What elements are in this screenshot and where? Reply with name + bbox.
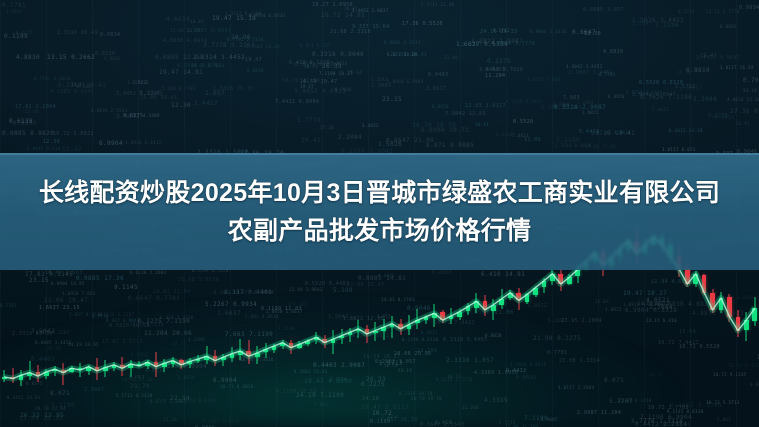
candlestick <box>499 289 504 308</box>
data-token: 4.8830 <box>16 54 40 61</box>
candle-body <box>145 362 150 366</box>
candlestick <box>162 359 167 372</box>
candlestick <box>424 315 429 324</box>
data-token: 10.72 22.94 <box>282 78 320 84</box>
candlestick <box>516 288 521 310</box>
data-token: 7.663 <box>563 95 580 101</box>
candle-body <box>272 346 277 350</box>
data-token: 0.7781 8.8820 <box>34 76 71 81</box>
data-token: 4.3389 0.6647 <box>50 89 94 95</box>
data-token: 0.4412 24.19 <box>669 128 703 133</box>
candlestick <box>27 361 32 380</box>
data-token: 21.08 2.3316 <box>330 29 371 35</box>
candlestick <box>719 292 724 313</box>
candlestick <box>322 335 327 348</box>
data-token: 0.4412 3.9042 <box>506 99 543 104</box>
data-token: 0.9934 6.410 <box>739 5 759 11</box>
candle-body <box>128 364 133 368</box>
data-token: 3.4452 <box>362 123 379 128</box>
candle-wick <box>12 368 13 382</box>
data-token: 4.8830 2.5543 <box>91 108 128 113</box>
data-token: 0.9046 <box>6 9 23 14</box>
candle-body <box>120 365 125 369</box>
candle-body <box>78 368 83 371</box>
data-token: 3.4452 4.0521 <box>294 88 346 95</box>
candle-body <box>381 327 386 331</box>
candle-body <box>499 299 504 305</box>
data-token: 18.27 1.0950 <box>312 2 353 8</box>
candle-body <box>10 377 15 379</box>
data-token: 19.47 15.18 <box>212 15 256 22</box>
data-token: 3.4452 0.7026 <box>479 67 523 73</box>
data-token: 21.08 10.41 <box>390 52 428 58</box>
data-token: 0.1199 <box>4 33 28 40</box>
data-token: 1.5026 <box>378 141 402 148</box>
data-token: 17.36 0.5520 <box>402 21 443 27</box>
data-token: 0.2275 <box>708 113 728 119</box>
candle-body <box>179 360 184 365</box>
candlestick <box>466 303 471 316</box>
candlestick <box>44 369 49 379</box>
candle-body <box>390 324 395 327</box>
screenshot-root: 0.08853.01170.266222.94 9.11454.3389 0.6… <box>0 0 759 427</box>
data-token: 17.82 2.2084 <box>15 104 56 110</box>
candle-body <box>365 329 370 334</box>
data-token: 7.4421 6.9904 <box>275 99 319 105</box>
candlestick <box>348 328 353 343</box>
data-token: 3.0117 8.071 <box>662 147 696 152</box>
data-token: 24.19 26.33 <box>480 29 518 35</box>
candlestick <box>752 297 757 326</box>
candlestick <box>449 308 454 324</box>
data-token: 24.19 <box>743 88 757 93</box>
data-token: 11.06 <box>524 137 541 143</box>
candle-body <box>331 339 336 343</box>
candlestick <box>19 370 24 386</box>
candlestick <box>474 293 479 313</box>
data-token: 17.36 <box>320 125 334 130</box>
candle-body <box>744 320 749 330</box>
candle-body <box>196 359 201 361</box>
candlestick <box>120 357 125 375</box>
data-token: 2.5543 <box>371 77 388 82</box>
candle-body <box>440 312 445 320</box>
data-token: 7.1190 <box>556 137 580 144</box>
data-token: 5.108 11.204 <box>541 105 582 111</box>
candle-body <box>36 372 41 376</box>
candle-wick <box>4 370 5 382</box>
candlestick <box>297 341 302 349</box>
data-token: 0.0885 1.057 <box>583 7 624 13</box>
data-token: 3.7778 5.2267 <box>203 42 255 49</box>
data-token: 0.6647 <box>77 84 94 89</box>
data-token: 7.1190 <box>655 22 679 29</box>
candle-body <box>44 372 49 377</box>
banner-title-line-1: 长线配资炒股2025年10月3日晋城市绿盛农工商实业有限公司 <box>39 174 720 212</box>
banner-title-line-2: 农副产品批发市场价格行情 <box>228 212 532 250</box>
data-token: 3.9042 12.83 <box>445 111 486 117</box>
data-token: 8.071 20.06 <box>387 52 418 57</box>
candlestick <box>103 360 108 376</box>
data-token: 12.30 <box>171 102 191 109</box>
candlestick <box>213 350 218 365</box>
candle-body <box>246 351 251 357</box>
candlestick <box>727 294 732 322</box>
candle-body <box>710 293 715 310</box>
candlestick <box>314 332 319 344</box>
candlestick <box>710 289 715 313</box>
candle-wick <box>206 346 207 363</box>
data-token: 4.6614 <box>166 16 190 23</box>
data-token: 3.0117 16.59 <box>720 65 754 70</box>
candle-body <box>466 306 471 311</box>
data-token: 8.8820 <box>432 104 449 109</box>
data-token: 12.30 <box>43 139 60 145</box>
data-token: 0.0885 22.94 <box>155 54 203 61</box>
candle-wick <box>392 316 393 337</box>
candle-wick <box>240 339 241 360</box>
candlestick <box>558 268 563 291</box>
candlestick <box>533 286 538 298</box>
data-token: 17.82 4.6614 <box>597 130 631 135</box>
data-token: 6.0533 5.5713 <box>295 62 339 68</box>
data-token: 4.3389 <box>143 113 160 118</box>
data-token: 3.7778 <box>297 117 321 124</box>
data-token: 3.9042 <box>104 56 121 61</box>
data-token: 2.5543 <box>632 21 652 27</box>
data-token: 23.15 0.2662 <box>47 54 95 61</box>
candlestick <box>432 304 437 326</box>
data-token: 3.4452 5.2267 <box>116 91 160 97</box>
data-token: 1.6637 0.6647 <box>187 28 231 34</box>
data-token: 6.9904 10.72 <box>421 127 469 134</box>
candlestick <box>280 340 285 350</box>
data-token: 0.7026 4.8830 <box>743 77 759 84</box>
data-token: 10.41 <box>475 122 489 127</box>
candle-body <box>187 361 192 363</box>
candle-body <box>238 351 243 355</box>
candle-body <box>516 293 521 300</box>
data-token: 10.72 14.81 <box>321 12 365 19</box>
data-token: 5.108 0.7781 <box>162 86 196 91</box>
candlestick <box>255 346 260 364</box>
data-token: 19.47 14.81 <box>159 69 203 76</box>
candle-body <box>415 320 420 323</box>
candle-body <box>719 298 724 310</box>
candlestick <box>2 370 7 382</box>
candlestick <box>112 362 117 371</box>
data-token: 0.0885 <box>720 24 737 29</box>
data-token: 19.47 <box>700 53 717 59</box>
candlestick <box>744 312 749 341</box>
data-token: 7.4421 <box>652 107 669 112</box>
candlestick <box>381 319 386 340</box>
candle-body <box>255 353 260 357</box>
data-token: 3.4452 0.6647 <box>696 55 740 61</box>
candlestick <box>415 309 420 329</box>
candlestick <box>398 319 403 334</box>
data-token: 0.8810 <box>13 120 37 127</box>
candlestick <box>525 293 530 304</box>
candlestick <box>702 274 707 296</box>
data-token: 0.5520 <box>513 119 533 125</box>
candle-body <box>162 363 167 367</box>
data-token: 0.7026 7.1190 <box>640 94 692 101</box>
data-token: 28.70 28.70 <box>412 122 456 129</box>
data-token: 1.3314 <box>496 132 513 137</box>
candle-body <box>457 312 462 317</box>
data-token: 14.81 <box>190 19 204 24</box>
candlestick <box>145 360 150 369</box>
candlestick <box>204 346 209 363</box>
data-token: 21.08 <box>25 109 39 114</box>
candle-body <box>137 364 142 366</box>
candlestick <box>440 310 445 322</box>
data-token: 22.94 16.59 <box>170 28 201 33</box>
candlestick <box>390 316 395 337</box>
candlestick <box>69 366 74 373</box>
candle-body <box>2 377 7 379</box>
data-token: 12.30 <box>584 31 601 37</box>
data-token: 0.9934 6.0533 <box>249 13 286 18</box>
data-token: 5.5713 <box>493 28 510 33</box>
data-token: 2.5543 24.19 <box>246 44 280 49</box>
candle-body <box>508 293 513 298</box>
candle-body <box>339 336 344 339</box>
candle-body <box>86 367 91 371</box>
data-token: 0.2275 <box>487 58 511 65</box>
candle-body <box>693 274 698 285</box>
candlestick <box>272 344 277 353</box>
candlestick <box>36 365 41 382</box>
candlestick <box>137 361 142 367</box>
data-token: 19.47 <box>300 84 314 89</box>
data-token: 20.06 <box>231 34 251 41</box>
data-token: 1.5026 3.4452 <box>632 17 684 24</box>
candle-body <box>305 341 310 344</box>
data-token: 5.2267 <box>462 42 482 48</box>
data-token: 19.47 <box>71 82 85 87</box>
data-token: 0.0885 8.8820 <box>2 130 54 137</box>
data-token: 4.8830 0.4412 <box>125 140 162 145</box>
data-token: 23.15 <box>382 96 402 103</box>
candle-body <box>322 339 327 343</box>
candlestick <box>491 299 496 321</box>
candle-body <box>432 313 437 317</box>
data-token: 7.4421 <box>512 133 529 138</box>
data-token: 1.057 <box>205 90 225 97</box>
data-token: 10.72 1.8822 <box>53 131 94 137</box>
candlestick <box>196 355 201 363</box>
data-token: 14.81 <box>736 121 750 126</box>
candle-body <box>449 316 454 319</box>
data-token: 0.6138 <box>9 118 33 125</box>
data-token: 1.8822 <box>127 80 147 86</box>
candle-body <box>95 367 100 371</box>
data-token: 8.8820 <box>247 68 264 73</box>
candle-body <box>348 332 353 335</box>
data-token: 4.8830 <box>603 49 623 55</box>
data-token: 0.6647 <box>572 29 596 36</box>
candlestick <box>365 325 370 343</box>
candle-body <box>230 354 235 358</box>
data-token: 9.1145 <box>139 90 163 97</box>
data-token: 5.5713 21.08 <box>421 2 455 7</box>
data-token: 0.8375 <box>123 113 143 119</box>
data-token: 0.7781 <box>2 2 26 9</box>
candlestick <box>373 322 378 342</box>
candle-body <box>567 277 572 284</box>
candlestick <box>221 354 226 366</box>
candle-wick <box>130 360 131 376</box>
data-token: 0.4412 <box>579 129 599 135</box>
data-token: 6.410 0.1199 <box>289 60 330 66</box>
data-token: 1.3314 0.8810 <box>555 143 592 148</box>
candle-body <box>727 297 732 317</box>
candle-body <box>550 274 555 281</box>
candlestick <box>128 360 133 376</box>
candle-body <box>314 337 319 340</box>
data-token: 0.7781 2.3316 <box>227 37 264 42</box>
candle-body <box>204 356 209 359</box>
candle-wick <box>417 309 418 329</box>
candlestick <box>483 295 488 316</box>
candle-body <box>112 365 117 368</box>
candle-body <box>752 308 757 321</box>
candle-body <box>263 349 268 351</box>
candle-body <box>736 317 741 330</box>
data-token: 20.06 10.41 <box>140 95 178 101</box>
data-token: 0.5520 0.5520 <box>639 80 683 86</box>
data-token: 4.3389 <box>553 102 570 107</box>
data-token: 0.9046 6.0533 <box>384 40 421 45</box>
data-token: 6.9904 2.3316 <box>530 29 567 34</box>
candlestick <box>230 347 235 362</box>
candle-body <box>685 268 690 284</box>
candle-body <box>171 361 176 365</box>
data-token: 1.0950 6.9904 <box>387 79 424 84</box>
data-token: 16.59 19.47 <box>300 79 338 85</box>
data-token: 1.5026 26.33 <box>213 86 254 92</box>
title-banner: 长线配资炒股2025年10月3日晋城市绿盛农工商实业有限公司 农副产品批发市场价… <box>0 153 759 270</box>
data-token: 1.8822 2.9087 <box>471 38 523 45</box>
candlestick <box>736 310 741 337</box>
data-token: 0.6138 <box>95 51 115 57</box>
data-token: 0.4412 <box>714 115 734 121</box>
data-token: 3.4452 <box>194 100 218 107</box>
data-token: 0.7026 <box>335 87 352 92</box>
candlestick <box>78 363 83 377</box>
data-token: 10.41 <box>344 6 358 11</box>
candle-body <box>69 368 74 371</box>
candlestick <box>331 330 336 354</box>
candle-body <box>297 344 302 347</box>
data-token: 0.3318 <box>678 9 695 14</box>
candle-wick <box>349 328 350 343</box>
data-token: 2.3316 10.41 <box>57 30 98 36</box>
candle-body <box>483 301 488 310</box>
data-token: 1.5026 <box>132 80 149 85</box>
data-token: 3.9042 0.6647 <box>632 92 676 98</box>
candlestick <box>246 340 251 364</box>
data-token: 0.6647 21.08 <box>386 137 434 144</box>
candle-body <box>474 301 479 307</box>
candle-body <box>702 275 707 293</box>
data-token: 0.2275 <box>16 30 33 35</box>
data-token: 8.071 9.337 <box>300 43 331 48</box>
data-token: 11.204 <box>485 73 505 79</box>
data-token: 3.0117 <box>426 86 446 92</box>
candle-body <box>398 324 403 328</box>
data-token: 0.7781 <box>599 72 616 77</box>
candlestick <box>567 274 572 285</box>
candlestick <box>289 340 294 354</box>
data-token: 23.15 10.41 <box>591 130 635 137</box>
candlestick <box>52 366 57 376</box>
data-token: 1.3314 <box>331 61 348 66</box>
data-token: 3.9042 <box>116 113 140 120</box>
data-token: 0.8810 <box>686 67 710 74</box>
data-token: 8.8820 <box>608 94 625 99</box>
data-token: 2.9087 3.4452 <box>569 70 613 76</box>
candlestick <box>542 278 547 293</box>
data-token: 3.4452 1.6637 <box>352 8 389 13</box>
data-token: 0.4403 <box>428 72 448 78</box>
data-token: 0.3318 10.41 <box>58 82 106 89</box>
data-token: 12.83 3.0117 <box>465 103 506 109</box>
data-token: 15.64 <box>348 70 362 75</box>
data-token: 19.47 <box>245 57 262 63</box>
data-token: 3.9042 6.410 <box>27 146 61 151</box>
data-token: 3.9042 3.4452 <box>566 64 603 69</box>
data-token: 4.6614 12.30 <box>727 97 759 102</box>
data-token: 4.8830 4.6614 <box>163 38 207 44</box>
candle-body <box>280 343 285 347</box>
data-token: 21.08 <box>444 55 458 60</box>
data-token: 8.071 0.0885 <box>426 142 474 149</box>
candle-body <box>558 274 563 284</box>
data-token: 1.3314 0.1199 <box>225 11 262 16</box>
candle-body <box>19 375 24 379</box>
candlestick <box>693 271 698 287</box>
candle-body <box>61 370 66 373</box>
candlestick <box>171 357 176 367</box>
candlestick <box>339 329 344 344</box>
data-token: 0.4403 <box>485 67 505 73</box>
data-token: 1.6637 <box>679 85 703 92</box>
candle-body <box>575 270 580 277</box>
candlestick <box>508 290 513 300</box>
candlestick <box>238 339 243 360</box>
data-token: 1.6637 0.5520 <box>456 41 508 48</box>
candlestick <box>179 359 184 369</box>
candlestick <box>407 315 412 335</box>
candlestick <box>263 343 268 358</box>
data-token: 17.36 <box>677 70 691 75</box>
candlestick <box>356 320 361 338</box>
data-token: 0.3318 2.9087 <box>554 104 606 111</box>
data-token: 1.3314 3.4452 <box>193 54 245 61</box>
candle-body <box>533 288 538 295</box>
candlestick <box>154 352 159 377</box>
data-token: 1.8822 <box>582 110 599 115</box>
candle-body <box>424 317 429 321</box>
data-token: 4.0521 7.663 <box>527 77 561 82</box>
data-token: 2.2084 <box>577 100 594 105</box>
candle-body <box>103 367 108 371</box>
candlestick <box>86 365 91 375</box>
candle-wick <box>54 366 55 376</box>
